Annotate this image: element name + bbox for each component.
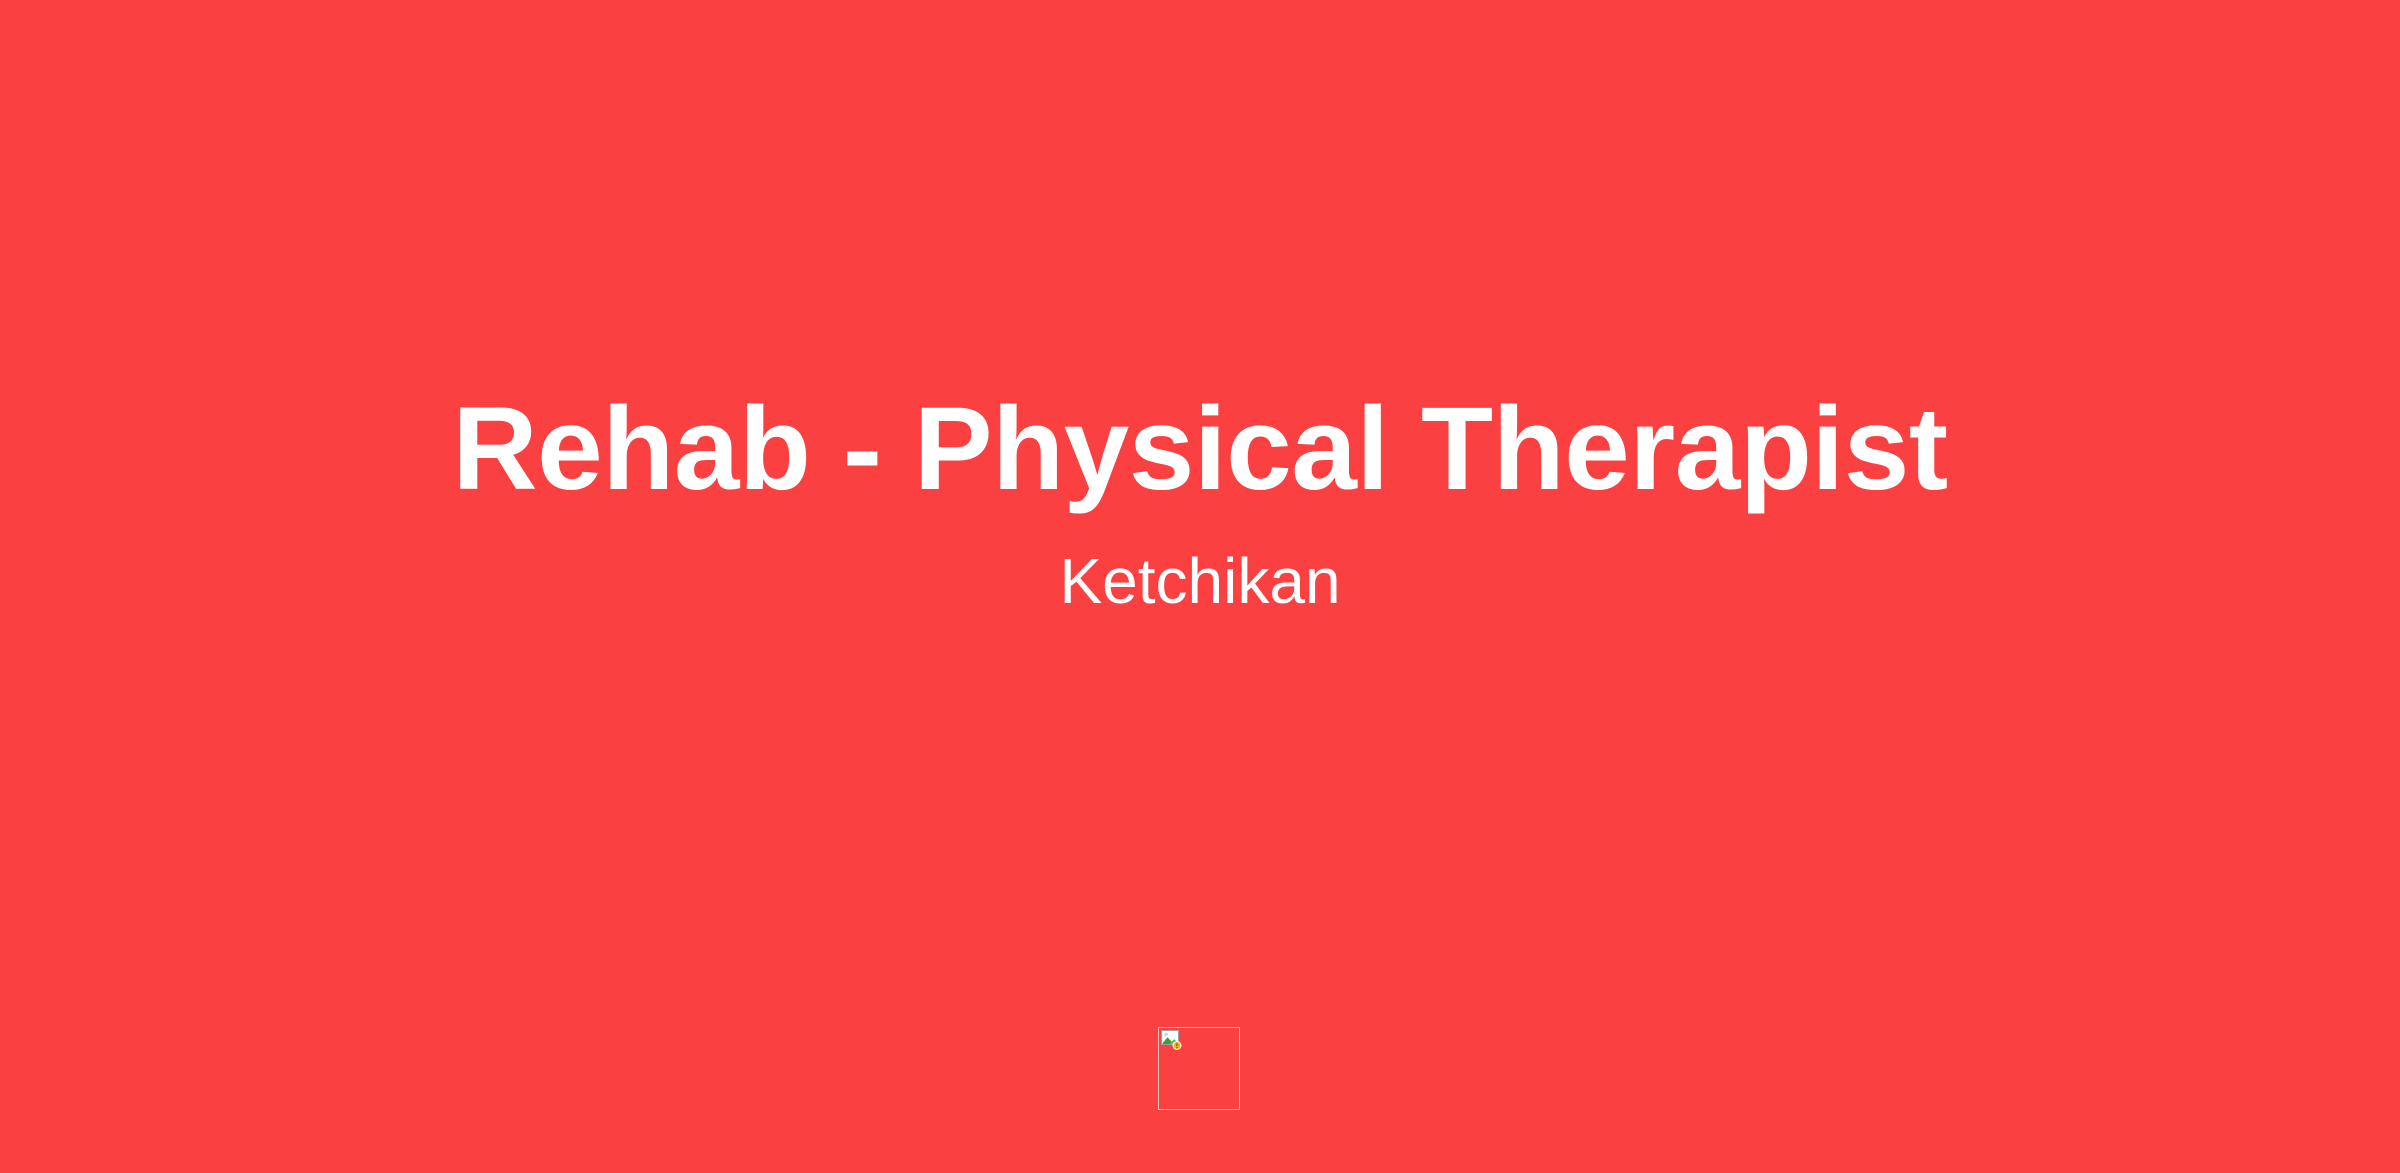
broken-image-icon: [1161, 1030, 1183, 1050]
broken-image-placeholder[interactable]: [1158, 1027, 1240, 1110]
hero-section: Rehab - Physical Therapist Ketchikan: [0, 0, 2400, 1173]
page-root: Rehab - Physical Therapist Ketchikan: [0, 0, 2400, 1173]
page-title: Rehab - Physical Therapist: [0, 383, 2400, 515]
page-subtitle: Ketchikan: [0, 543, 2400, 620]
